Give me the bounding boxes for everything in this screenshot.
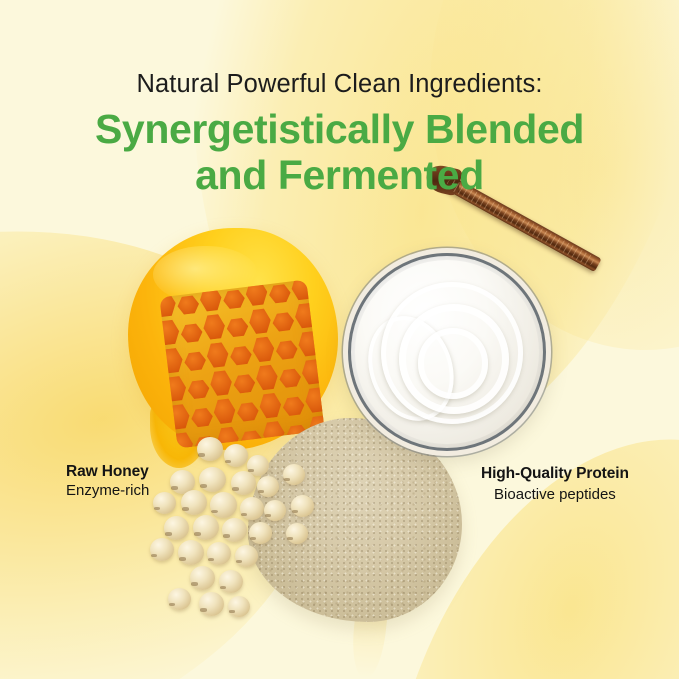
caption-raw-honey-title: Raw Honey — [66, 463, 149, 482]
caption-protein-title: High-Quality Protein — [481, 465, 629, 484]
yogurt-surface — [355, 260, 539, 444]
eyebrow-text: Natural Powerful Clean Ingredients: — [0, 70, 679, 98]
caption-raw-honey: Raw Honey Enzyme-rich — [66, 463, 149, 500]
headline-line-1: Synergetistically Blended — [0, 107, 679, 153]
headline-line-2: and Fermented — [0, 153, 679, 199]
headline-block: Natural Powerful Clean Ingredients: Syne… — [0, 70, 679, 199]
yogurt-bowl-image — [343, 248, 551, 456]
bowl-rim — [348, 253, 546, 451]
caption-protein-subtitle: Bioactive peptides — [481, 486, 629, 504]
caption-high-quality-protein: High-Quality Protein Bioactive peptides — [481, 465, 629, 504]
headline-text: Synergetistically Blended and Fermented — [0, 107, 679, 199]
ingredients-poster: Natural Powerful Clean Ingredients: Syne… — [0, 0, 679, 679]
caption-raw-honey-subtitle: Enzyme-rich — [66, 482, 149, 500]
